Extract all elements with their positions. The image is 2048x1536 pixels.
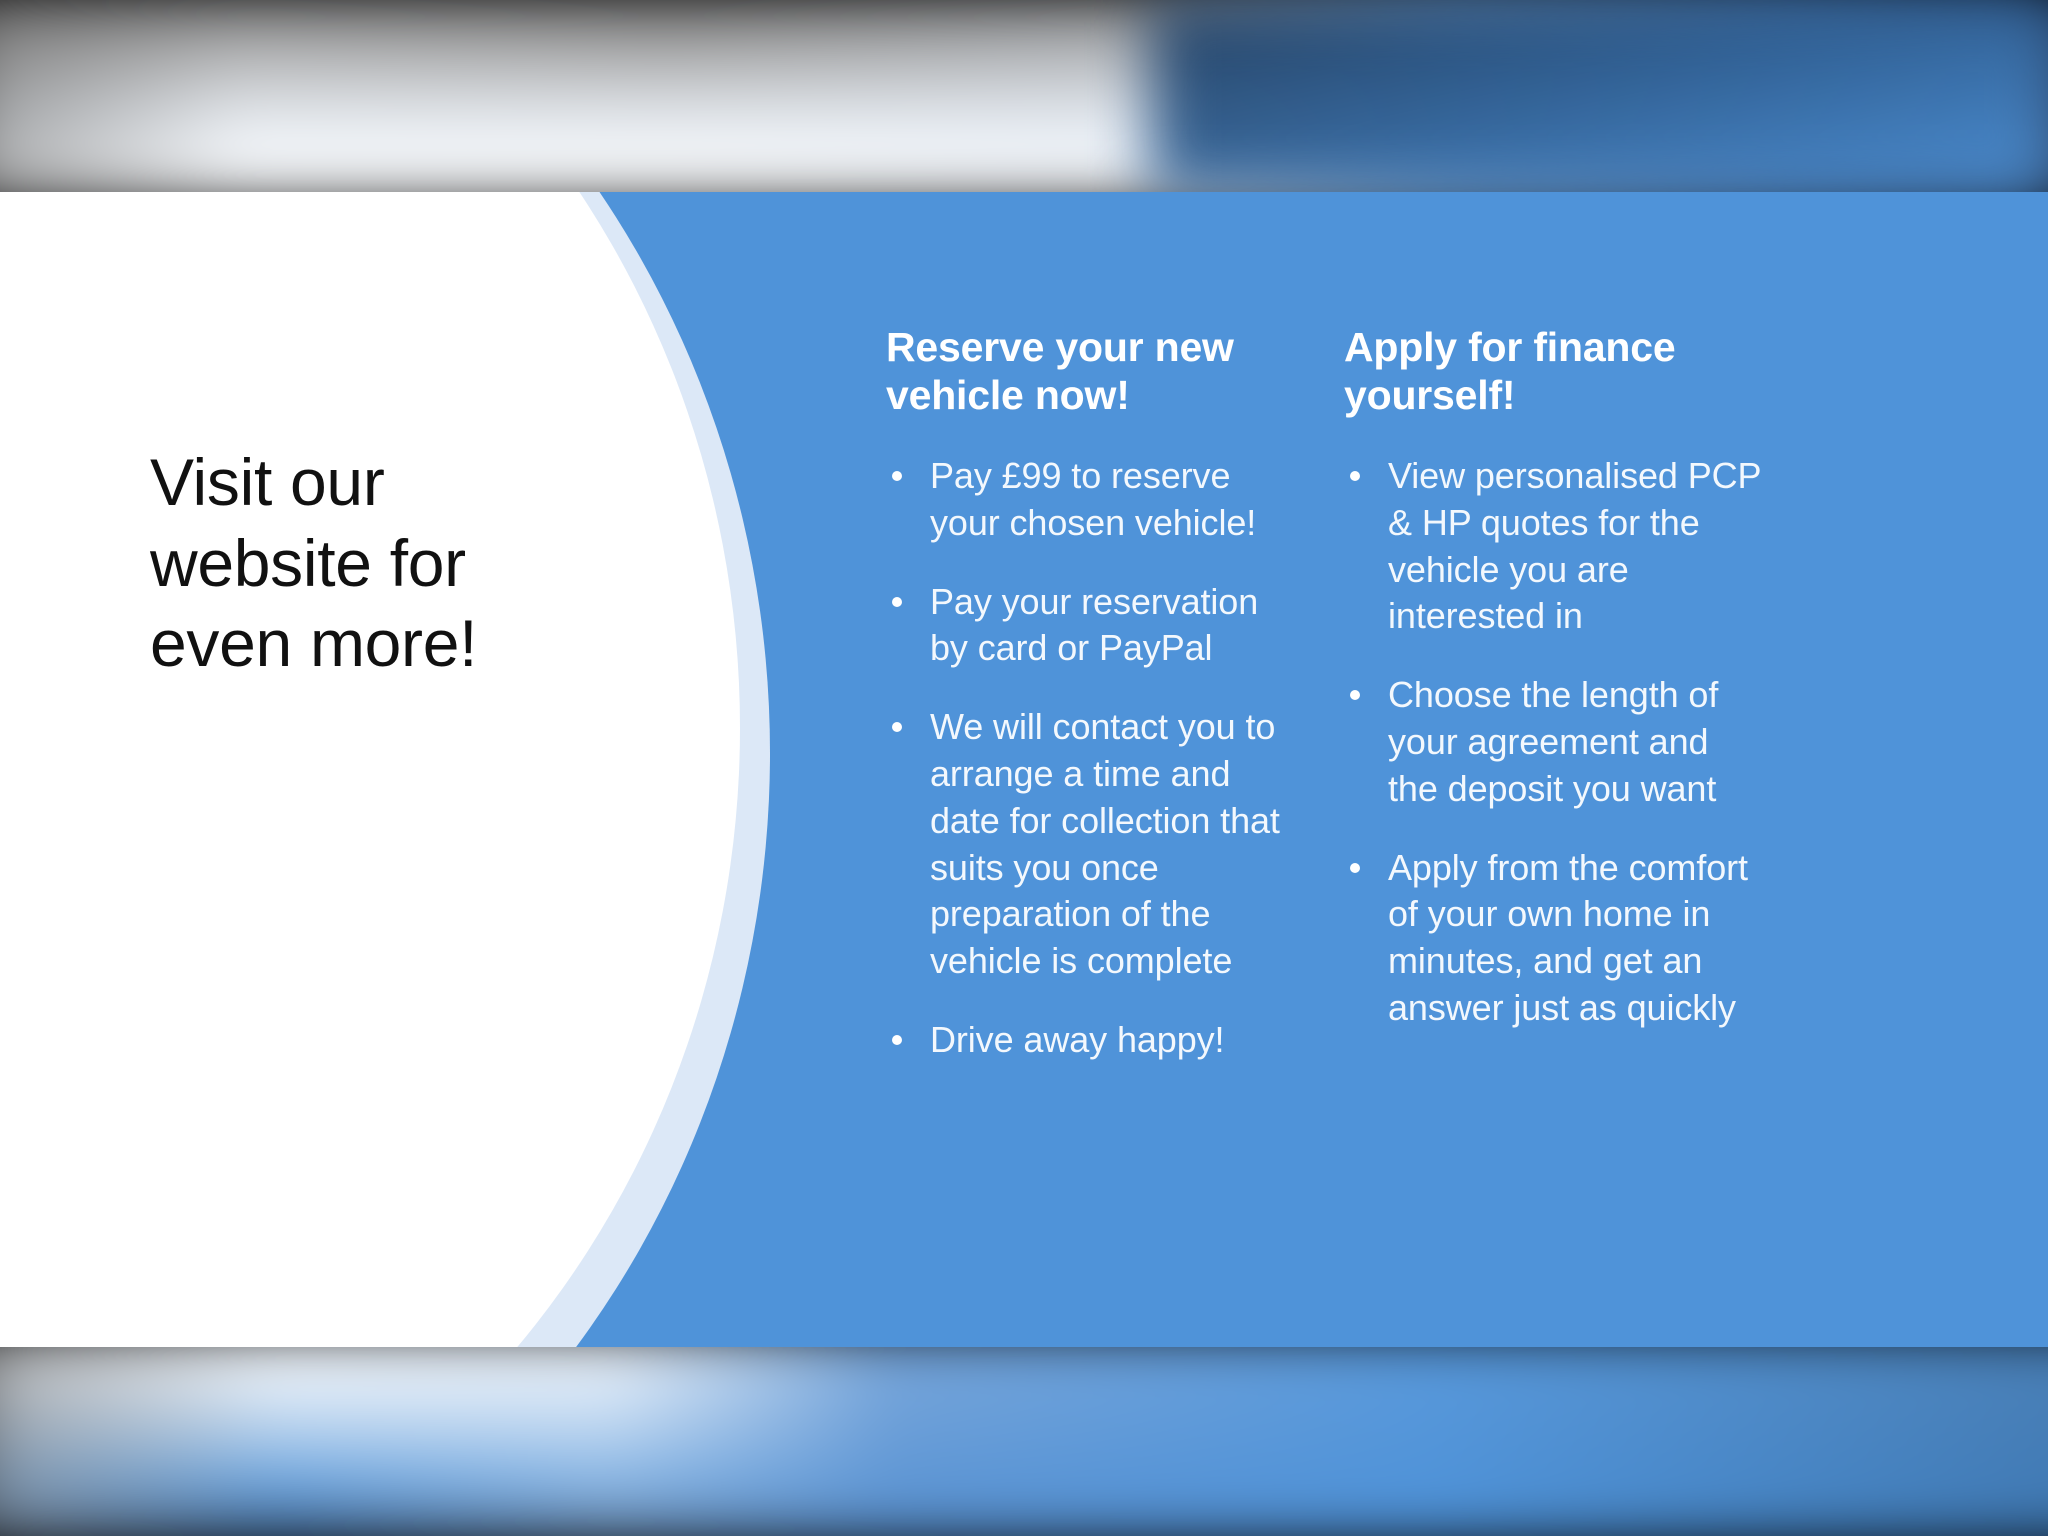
page-title: Visit our website for even more! [150,442,580,684]
bullet-list-reserve: Pay £99 to reserve your chosen vehicle! … [886,453,1286,1064]
list-item-text: Drive away happy! [930,1019,1224,1060]
bullet-dot-icon [1350,863,1360,873]
content-columns: Reserve your new vehicle now! Pay £99 to… [886,324,1966,1064]
bullet-dot-icon [892,722,902,732]
bullet-dot-icon [892,471,902,481]
presentation-slide: Visit our website for even more! Reserve… [0,192,2048,1347]
list-item: Apply from the comfort of your own home … [1344,845,1764,1032]
backdrop-top-blue-blur [1150,0,2048,196]
list-item-text: Apply from the comfort of your own home … [1388,847,1748,1028]
list-item-text: Choose the length of your agreement and … [1388,674,1718,809]
bullet-dot-icon [1350,471,1360,481]
bullet-list-finance: View personalised PCP & HP quotes for th… [1344,453,1764,1032]
list-item-text: We will contact you to arrange a time an… [930,706,1280,981]
list-item-text: Pay £99 to reserve your chosen vehicle! [930,455,1256,543]
list-item: Choose the length of your agreement and … [1344,672,1764,812]
backdrop-bottom-blur [0,1332,2048,1536]
column-apply-finance: Apply for finance yourself! View persona… [1344,324,1764,1064]
bullet-dot-icon [892,1035,902,1045]
bullet-dot-icon [892,597,902,607]
list-item: Pay £99 to reserve your chosen vehicle! [886,453,1286,547]
slide-stage: Visit our website for even more! Reserve… [0,0,2048,1536]
list-item-text: View personalised PCP & HP quotes for th… [1388,455,1761,636]
list-item: View personalised PCP & HP quotes for th… [1344,453,1764,640]
bullet-dot-icon [1350,690,1360,700]
list-item-text: Pay your reservation by card or PayPal [930,581,1258,669]
list-item: We will contact you to arrange a time an… [886,704,1286,985]
column-reserve-vehicle: Reserve your new vehicle now! Pay £99 to… [886,324,1286,1064]
list-item: Pay your reservation by card or PayPal [886,579,1286,673]
list-item: Drive away happy! [886,1017,1286,1064]
column-heading-reserve: Reserve your new vehicle now! [886,324,1286,419]
column-heading-finance: Apply for finance yourself! [1344,324,1764,419]
